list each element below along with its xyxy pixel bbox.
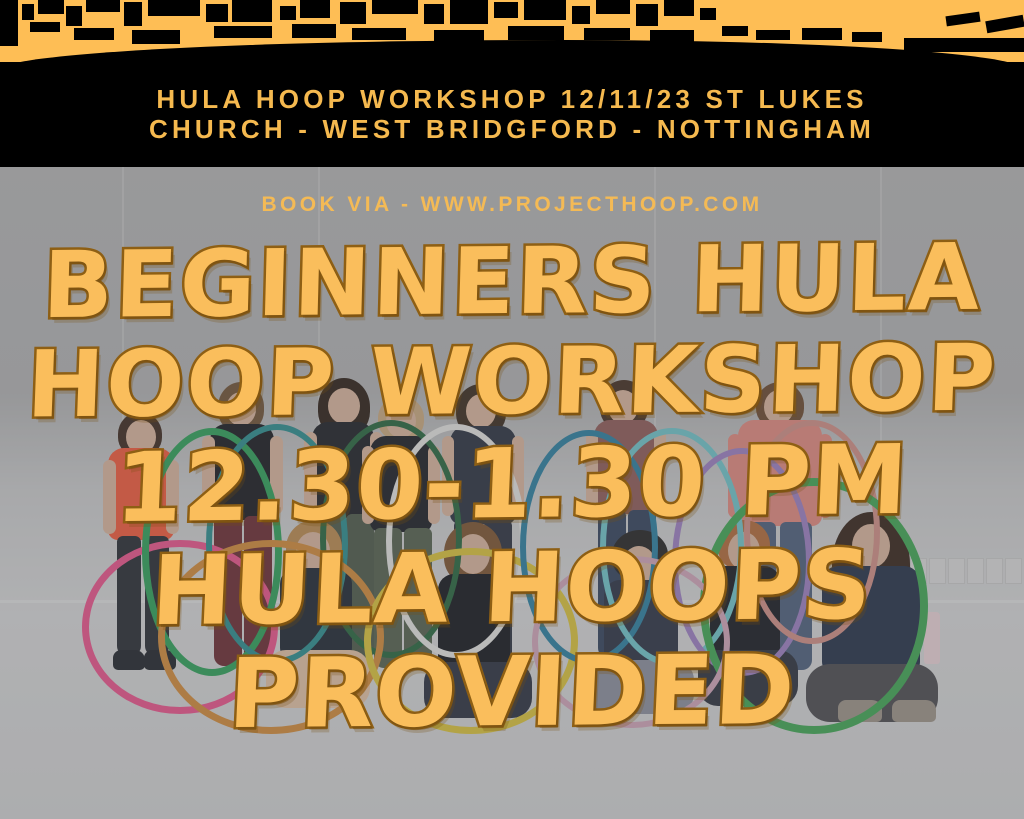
ink-shard xyxy=(852,32,882,42)
ink-shard xyxy=(508,26,564,40)
ink-shard xyxy=(596,0,630,14)
ink-shard xyxy=(572,6,590,24)
banner-title-line2: CHURCH - WEST BRIDGFORD - NOTTINGHAM xyxy=(0,114,1024,144)
ink-shard xyxy=(664,0,694,16)
booking-line[interactable]: BOOK VIA - WWW.PROJECTHOOP.COM xyxy=(0,193,1024,217)
ink-shard xyxy=(904,38,1024,52)
header-banner: HULA HOOP WORKSHOP 12/11/23 ST LUKES CHU… xyxy=(0,0,1024,167)
ink-shard xyxy=(74,28,114,40)
ink-shard xyxy=(650,30,694,42)
ink-shard xyxy=(86,0,120,12)
ink-shard xyxy=(636,4,658,26)
ink-shard xyxy=(280,6,296,20)
ink-shard xyxy=(300,0,330,18)
ink-shard xyxy=(38,0,64,14)
ink-shard xyxy=(434,30,484,42)
ink-shard xyxy=(148,0,200,16)
ink-shard xyxy=(232,0,272,22)
poster-root: HULA HOOP WORKSHOP 12/11/23 ST LUKES CHU… xyxy=(0,0,1024,819)
ink-shard xyxy=(584,28,630,40)
ink-shard xyxy=(424,4,444,24)
ink-shard xyxy=(214,26,272,38)
ink-shard xyxy=(802,28,842,40)
ink-shard xyxy=(450,0,488,24)
ink-shard xyxy=(292,24,336,38)
banner-title: HULA HOOP WORKSHOP 12/11/23 ST LUKES CHU… xyxy=(0,84,1024,144)
ink-shard xyxy=(0,0,18,46)
ink-shard xyxy=(494,2,518,18)
ink-shard xyxy=(756,30,790,40)
banner-title-line1: HULA HOOP WORKSHOP 12/11/23 ST LUKES xyxy=(156,84,867,114)
ink-shard xyxy=(722,26,748,36)
ink-shard xyxy=(372,0,418,14)
ink-shard xyxy=(700,8,716,20)
ink-shard xyxy=(340,2,366,24)
ink-shard xyxy=(30,22,60,32)
ink-shard xyxy=(124,2,142,26)
ink-shard xyxy=(524,0,566,20)
ink-shard xyxy=(132,30,180,44)
ink-shard xyxy=(66,6,82,26)
ink-shard xyxy=(352,28,406,40)
ink-shard xyxy=(22,4,34,20)
ink-shard xyxy=(206,4,228,22)
